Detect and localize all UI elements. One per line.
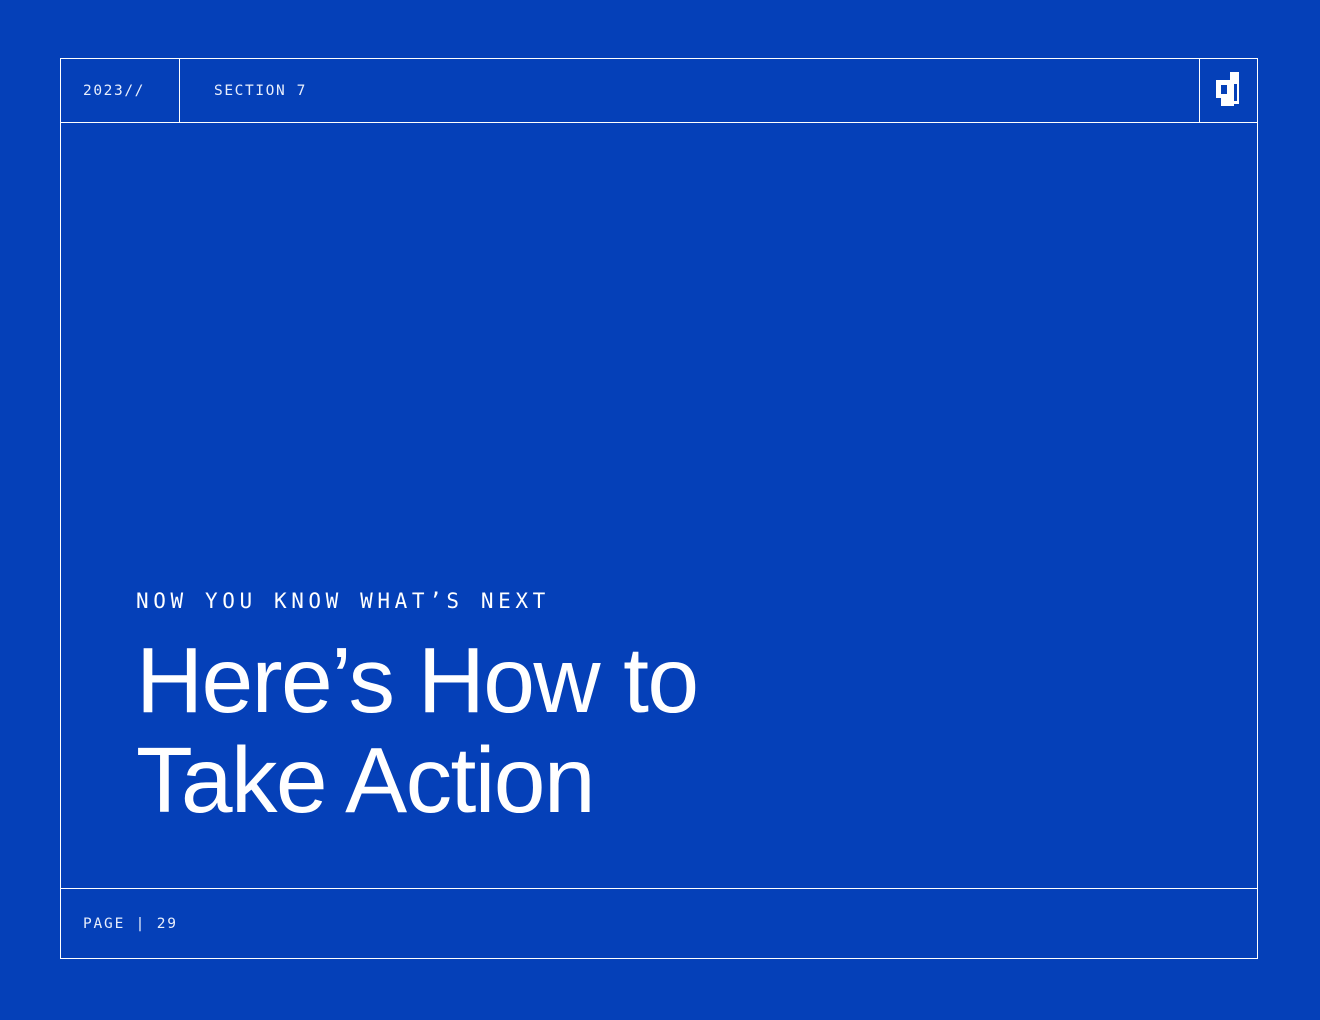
- eyebrow-text: NOW YOU KNOW WHAT’S NEXT: [136, 589, 1217, 613]
- brand-g-mark-icon: [1216, 72, 1242, 110]
- slide-body: NOW YOU KNOW WHAT’S NEXT Here’s How to T…: [61, 123, 1257, 888]
- page-number-label: PAGE | 29: [83, 916, 178, 932]
- year-label: 2023//: [83, 83, 145, 99]
- footer-bar: PAGE | 29: [61, 888, 1257, 958]
- section-label: SECTION 7: [214, 83, 307, 99]
- header-bar: 2023// SECTION 7: [61, 59, 1257, 123]
- title-block: NOW YOU KNOW WHAT’S NEXT Here’s How to T…: [136, 589, 1217, 830]
- page-title: Here’s How to Take Action: [136, 631, 1217, 830]
- slide-frame: 2023// SECTION 7: [60, 58, 1258, 959]
- slide-canvas: { "theme": { "background_color": "#0540b…: [0, 0, 1320, 1020]
- header-section-cell: SECTION 7: [180, 59, 1199, 122]
- header-year-cell: 2023//: [61, 59, 180, 122]
- header-logo-cell: [1199, 59, 1257, 122]
